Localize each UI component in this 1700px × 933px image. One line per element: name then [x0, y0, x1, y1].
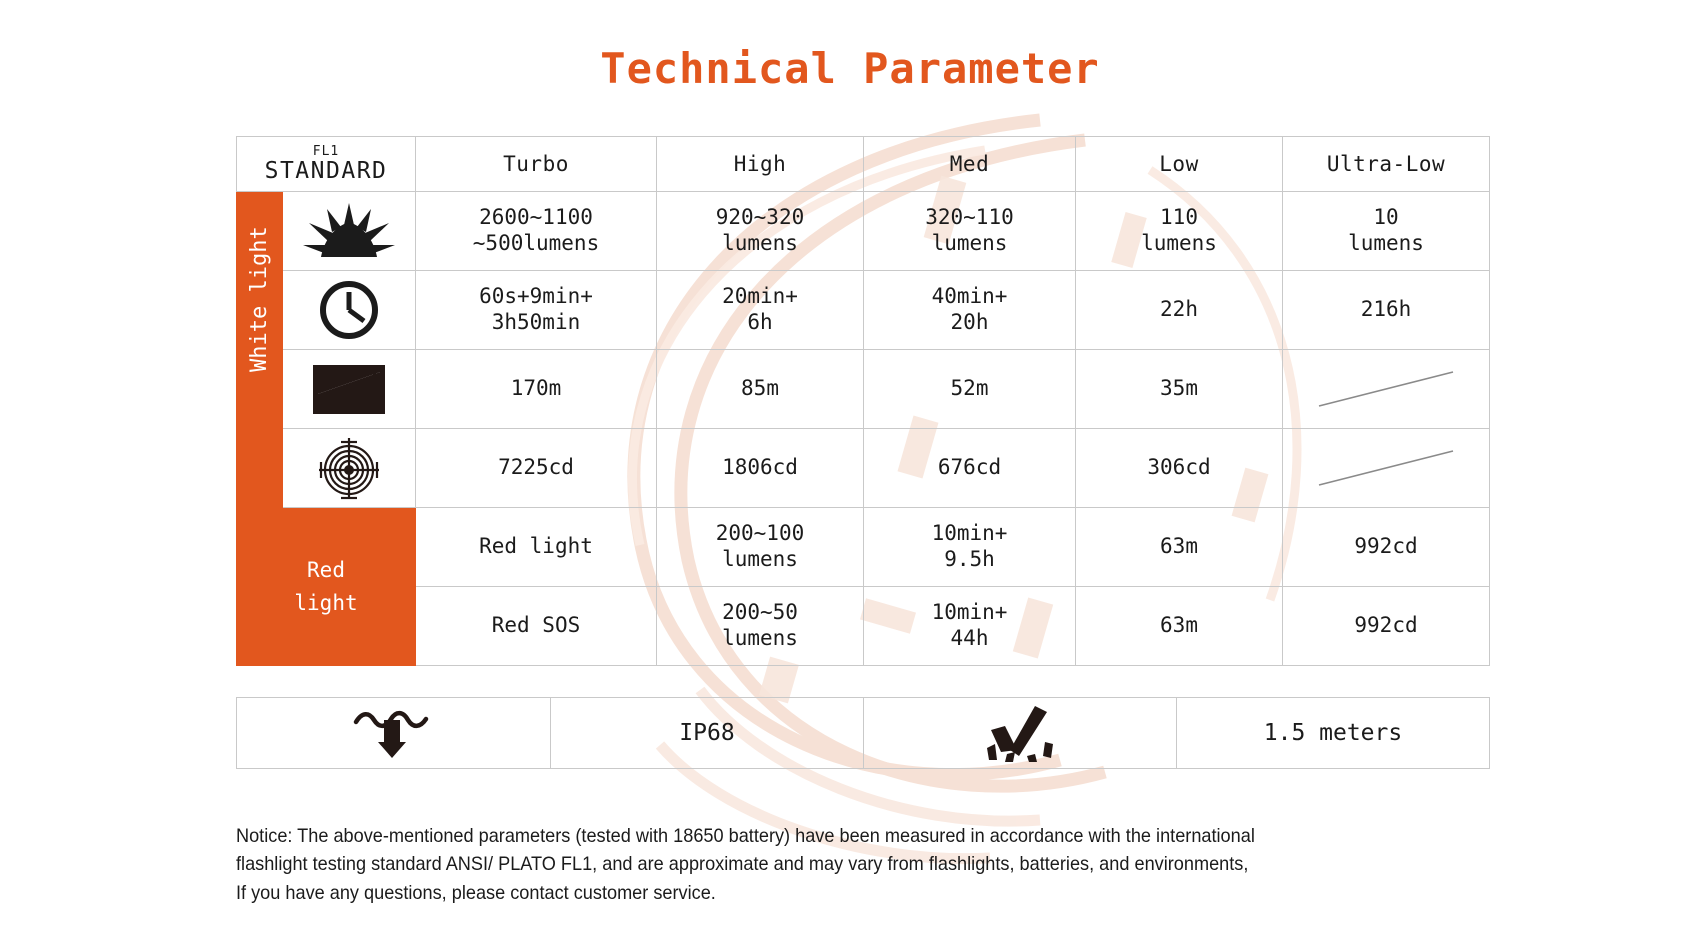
fl1-label: FL1	[237, 145, 415, 159]
red-light-label-line1: Red	[307, 558, 345, 582]
water-resistance-icon-glyph	[342, 706, 446, 760]
impact-resistance-icon-glyph	[983, 704, 1057, 762]
cell-intensity-med: 676cd	[864, 429, 1076, 508]
cell-runtime-med: 40min+20h	[864, 271, 1076, 350]
cell-intensity-high: 1806cd	[657, 429, 864, 508]
cell-distance-high: 85m	[657, 350, 864, 429]
cell-intensity-low: 306cd	[1076, 429, 1283, 508]
ratings-row: IP68 1.5 meters	[237, 698, 1490, 769]
not-applicable-slash-icon	[1311, 366, 1461, 412]
spec-table-container: FL1 STANDARD Turbo High Med Low Ultra-Lo…	[236, 136, 1489, 666]
white-light-label: White light	[247, 327, 272, 372]
header-mode-low: Low	[1076, 137, 1283, 192]
table-header-row: FL1 STANDARD Turbo High Med Low Ultra-Lo…	[237, 137, 1490, 192]
water-resistance-icon	[237, 698, 551, 769]
not-applicable-slash-icon	[1311, 445, 1461, 491]
notice-line-3: If you have any questions, please contac…	[236, 879, 1406, 907]
cell-runtime-low: 22h	[1076, 271, 1283, 350]
red-light-label-line2: light	[294, 591, 357, 615]
cell-runtime-ultra-low: 216h	[1283, 271, 1490, 350]
cell-output-ultra-low: 10lumens	[1283, 192, 1490, 271]
header-fl1-standard: FL1 STANDARD	[237, 137, 416, 192]
table-row-intensity: 7225cd 1806cd 676cd 306cd	[237, 429, 1490, 508]
standard-label: STANDARD	[237, 159, 415, 183]
cell-red-sos-output: 200~50lumens	[657, 587, 864, 666]
table-row-output: White light	[237, 192, 1490, 271]
header-mode-turbo: Turbo	[416, 137, 657, 192]
beam-distance-icon	[283, 350, 416, 429]
sunburst-icon-glyph	[301, 201, 397, 261]
cell-distance-ultra-low-na	[1283, 350, 1490, 429]
cell-red-light-mode: Red light	[416, 508, 657, 587]
page-title: Technical Parameter	[0, 44, 1700, 93]
cell-red-light-intensity: 992cd	[1283, 508, 1490, 587]
cell-output-turbo: 2600~1100~500lumens	[416, 192, 657, 271]
header-mode-med: Med	[864, 137, 1076, 192]
notice-line-2: flashlight testing standard ANSI/ PLATO …	[236, 850, 1406, 878]
cell-red-light-distance: 63m	[1076, 508, 1283, 587]
cell-distance-med: 52m	[864, 350, 1076, 429]
cell-output-high: 920~320lumens	[657, 192, 864, 271]
cell-red-sos-distance: 63m	[1076, 587, 1283, 666]
cell-red-light-runtime: 10min+9.5h	[864, 508, 1076, 587]
cell-red-sos-mode: Red SOS	[416, 587, 657, 666]
group-label-white-light: White light	[237, 192, 283, 508]
ratings-footer-container: IP68 1.5 meters	[236, 697, 1489, 769]
table-row-runtime: 60s+9min+3h50min 20min+6h 40min+20h 22h …	[237, 271, 1490, 350]
technical-parameter-page: Technical Parameter FL1 STANDARD Turbo H…	[0, 0, 1700, 933]
cell-output-low: 110lumens	[1076, 192, 1283, 271]
peak-beam-intensity-icon	[283, 429, 416, 508]
table-row-red-light: Red light Red light 200~100lumens 10min+…	[237, 508, 1490, 587]
cell-distance-low: 35m	[1076, 350, 1283, 429]
group-label-red-light: Red light	[237, 508, 416, 666]
beam-distance-icon-glyph	[309, 361, 389, 417]
cell-distance-turbo: 170m	[416, 350, 657, 429]
ip-rating-value: IP68	[551, 698, 864, 769]
ratings-footer-table: IP68 1.5 meters	[236, 697, 1490, 769]
cell-intensity-turbo: 7225cd	[416, 429, 657, 508]
cell-output-med: 320~110lumens	[864, 192, 1076, 271]
header-mode-high: High	[657, 137, 864, 192]
table-row-distance: 170m 85m 52m 35m	[237, 350, 1490, 429]
cell-intensity-ultra-low-na	[1283, 429, 1490, 508]
cell-runtime-turbo: 60s+9min+3h50min	[416, 271, 657, 350]
impact-resistance-icon	[864, 698, 1177, 769]
header-mode-ultra-low: Ultra-Low	[1283, 137, 1490, 192]
peak-beam-intensity-icon-glyph	[317, 436, 381, 500]
table-row-red-sos: Red SOS 200~50lumens 10min+44h 63m 992cd	[237, 587, 1490, 666]
cell-red-sos-intensity: 992cd	[1283, 587, 1490, 666]
cell-red-light-output: 200~100lumens	[657, 508, 864, 587]
impact-resistance-value: 1.5 meters	[1177, 698, 1490, 769]
notice-block: Notice: The above-mentioned parameters (…	[236, 822, 1406, 907]
clock-icon-glyph	[318, 279, 380, 341]
spec-table: FL1 STANDARD Turbo High Med Low Ultra-Lo…	[236, 136, 1490, 666]
sunburst-icon	[283, 192, 416, 271]
cell-red-sos-runtime: 10min+44h	[864, 587, 1076, 666]
clock-icon	[283, 271, 416, 350]
cell-runtime-high: 20min+6h	[657, 271, 864, 350]
notice-line-1: Notice: The above-mentioned parameters (…	[236, 822, 1406, 850]
